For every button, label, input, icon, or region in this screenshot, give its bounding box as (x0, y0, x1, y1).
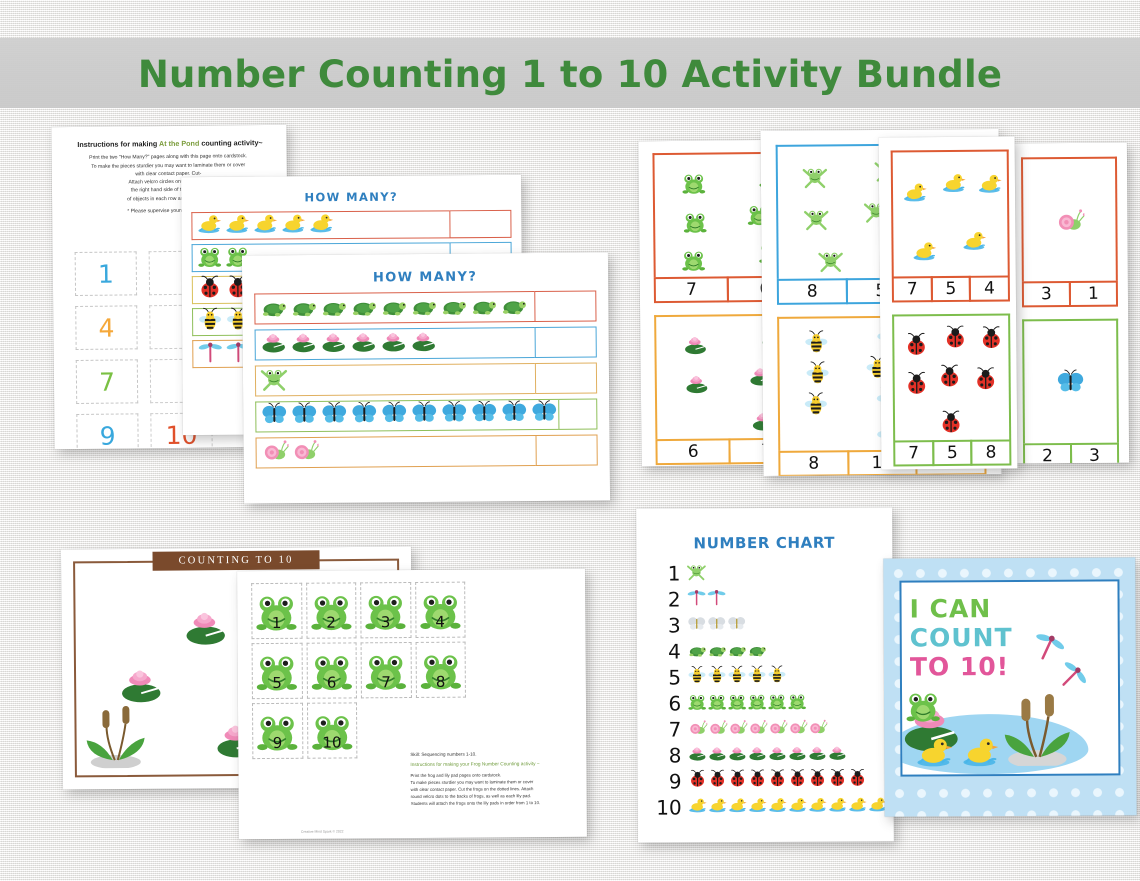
bee-icon (803, 392, 829, 423)
clip-card-options: 754 (892, 275, 1010, 302)
snail-icon (807, 716, 827, 741)
duck-icon (196, 210, 222, 241)
duck-icon (768, 794, 788, 819)
poster-inner: I CANCOUNTTO 10! (899, 579, 1120, 776)
number-chart-row: 4 (651, 637, 893, 664)
lilypad-icon (380, 327, 408, 360)
number-chart-number: 5 (651, 665, 681, 689)
ladybug-icon (787, 768, 807, 793)
number-chart-icons (687, 664, 787, 690)
clip-card[interactable]: 754 (891, 149, 1010, 302)
turtle-icon (439, 291, 467, 324)
copyright-text: Creative Mind Spark © 2022 (301, 829, 344, 833)
how-many-answer-box[interactable] (534, 291, 596, 323)
frog-card-number: 10 (322, 733, 341, 751)
frog-number-card[interactable]: 10 (306, 702, 357, 758)
clip-card[interactable]: 31 (1021, 157, 1118, 308)
number-chart-number: 9 (651, 769, 681, 793)
lilypad-icon (827, 742, 847, 767)
frog-icon (767, 690, 787, 715)
number-chart-number: 10 (652, 795, 682, 819)
how-many-rows (242, 290, 610, 468)
number-chart-number: 1 (650, 561, 680, 585)
frog-number-card[interactable]: 3 (360, 582, 411, 638)
clip-card[interactable]: 23 (1022, 319, 1119, 464)
duck-icon (224, 210, 250, 241)
turtle-icon (687, 639, 707, 664)
duck-icon (960, 732, 1000, 777)
butterfly-icon (440, 399, 468, 432)
bee-icon (767, 664, 787, 689)
bee-icon (727, 665, 747, 690)
number-chart-number: 6 (651, 691, 681, 715)
number-card[interactable]: 4 (75, 305, 137, 350)
lilypad-icon (350, 327, 378, 360)
butterfly-icon (320, 400, 348, 433)
turtle-icon (747, 638, 767, 663)
lilypad-icon (807, 742, 827, 767)
clip-cards-sheet-3[interactable]: 754758 (879, 136, 1018, 469)
bee-icon (803, 329, 829, 360)
bee-icon (747, 664, 767, 689)
how-many-row (256, 435, 598, 469)
dragonfly-icon (687, 587, 707, 612)
clip-card-option[interactable]: 4 (969, 275, 1010, 301)
bee-icon (687, 665, 707, 690)
poster-line-2: COUNT (910, 623, 1013, 653)
how-many-title: HOW MANY? (242, 268, 608, 286)
how-many-answer-box[interactable] (449, 210, 511, 238)
turtle-icon (499, 290, 527, 323)
ladybug-icon (938, 410, 964, 441)
number-chart-icons (688, 794, 888, 820)
number-chart-title: NUMBER CHART (636, 533, 892, 552)
number-chart-number: 2 (651, 587, 681, 611)
frog-card-number: 5 (272, 674, 282, 692)
ladybug-icon (904, 371, 930, 402)
frog-cards-instructions: Print the frog and lily pad pages onto c… (410, 771, 572, 808)
number-chart-row: 9 (651, 767, 893, 794)
clip-card-option[interactable]: 5 (932, 440, 973, 466)
clip-card-option[interactable]: 6 (655, 438, 731, 465)
number-chart-row: 8 (651, 741, 893, 768)
butterfly-icon (500, 398, 528, 431)
number-chart-icons (686, 561, 706, 586)
number-chart-row: 7 (651, 715, 893, 742)
number-chart-row: 3 (651, 611, 893, 638)
clip-card-pictures (891, 149, 1010, 276)
poster-text: I CANCOUNTTO 10! (910, 594, 1013, 682)
lilypad-icon (410, 327, 438, 360)
frog-icon (682, 208, 708, 239)
cattail-icon (84, 702, 147, 774)
clip-card-option[interactable]: 8 (777, 278, 848, 305)
lilypad-icon (683, 332, 709, 363)
how-many-title: HOW MANY? (181, 189, 521, 205)
clip-card-options: 31 (1022, 281, 1118, 308)
clip-card-option[interactable]: 7 (654, 276, 730, 303)
number-chart-icons (687, 638, 767, 663)
frog-card-number: 6 (327, 674, 337, 692)
ladybug-icon (937, 364, 963, 395)
clip-card-pictures (1021, 157, 1118, 282)
turtle-icon (319, 292, 347, 325)
poster-line-3: TO 10! (910, 652, 1013, 682)
butterfly-icon (350, 399, 378, 432)
frog-icon (787, 690, 807, 715)
ladybug-icon (972, 366, 998, 397)
snail-icon (291, 436, 319, 469)
lilypad-icon (747, 742, 767, 767)
duck-icon (788, 794, 808, 819)
how-many-answer-box[interactable] (536, 435, 598, 467)
number-chart-icons (687, 768, 867, 794)
frog-card-number: 4 (435, 613, 445, 631)
how-many-row (255, 363, 597, 397)
frog-jump-icon (803, 205, 829, 236)
frog-icon (680, 247, 706, 278)
turtle-icon (707, 639, 727, 664)
clip-card-option[interactable]: 7 (892, 276, 933, 302)
how-many-answer-box[interactable] (535, 327, 597, 359)
frog-card-number: 9 (273, 734, 283, 752)
bee-icon (707, 665, 727, 690)
number-chart-sheet[interactable]: NUMBER CHART12345678910 (636, 507, 894, 842)
number-chart-row: 5 (651, 663, 893, 690)
snail-icon (261, 436, 289, 469)
how-many-answer-box[interactable] (535, 363, 597, 395)
clip-card-option[interactable]: 8 (971, 439, 1012, 465)
ladybug-icon (197, 274, 223, 305)
frog-cards-skill: Skill: Sequencing numbers 1-10. (410, 751, 572, 757)
frog-number-card[interactable]: 1 (251, 583, 302, 639)
frog-icon (904, 686, 942, 729)
turtle-icon (727, 639, 747, 664)
clip-card-option[interactable]: 3 (1070, 443, 1119, 464)
clip-card-options: 23 (1023, 443, 1119, 464)
number-chart-icons (687, 716, 827, 742)
number-chart-row: 6 (651, 689, 893, 716)
clip-card[interactable]: 758 (892, 313, 1011, 466)
frog-jump-icon (802, 164, 828, 195)
ladybug-icon (942, 325, 968, 356)
frog-card-number: 8 (436, 673, 446, 691)
snail-icon (727, 717, 747, 742)
how-many-row (191, 210, 511, 240)
duck-icon (912, 238, 938, 269)
ladybug-icon (747, 768, 767, 793)
duck-icon (848, 794, 868, 819)
duck-icon (308, 210, 334, 241)
clip-card-pictures (892, 313, 1011, 440)
frog-number-card[interactable]: 9 (252, 703, 303, 759)
how-many-items (255, 363, 535, 396)
instruction-title: Instructions for making At the Pond coun… (63, 139, 276, 150)
clip-card-pictures (1022, 319, 1119, 444)
butterfly-pale-icon (687, 613, 707, 638)
number-chart-icons (687, 613, 747, 638)
count-to-10-poster[interactable]: I CANCOUNTTO 10! (883, 557, 1136, 816)
snail-icon (767, 716, 787, 741)
number-chart-number: 3 (651, 613, 681, 637)
butterfly-pale-icon (707, 613, 727, 638)
snail-icon (707, 717, 727, 742)
duck-icon (941, 170, 967, 201)
dragonfly-icon (707, 587, 727, 612)
turtle-icon (469, 290, 497, 323)
page-title: Number Counting 1 to 10 Activity Bundle (0, 46, 1140, 102)
lilypad-icon (320, 328, 348, 361)
number-chart-icons (687, 742, 847, 768)
how-many-items (254, 291, 534, 324)
duck-icon (728, 795, 748, 820)
number-chart-number: 7 (651, 717, 681, 741)
number-card[interactable]: 7 (76, 359, 138, 404)
clip-card-options: 758 (893, 439, 1011, 466)
lilypad-icon (687, 743, 707, 768)
number-chart-number: 4 (651, 639, 681, 663)
frog-icon (681, 170, 707, 201)
duck-icon (748, 794, 768, 819)
butterfly-pale-icon (727, 613, 747, 638)
butterfly-icon (380, 399, 408, 432)
duck-icon (708, 795, 728, 820)
frog-number-card[interactable]: 5 (252, 643, 303, 699)
clip-card-option[interactable]: 8 (778, 450, 849, 476)
bee-icon (804, 361, 830, 392)
snail-icon (747, 716, 767, 741)
how-many-items (255, 399, 558, 433)
frog-icon (747, 690, 767, 715)
snail-icon (787, 716, 807, 741)
clip-card-option[interactable]: 1 (1069, 281, 1118, 307)
how-many-answer-box[interactable] (558, 399, 597, 430)
frog-icon (197, 242, 223, 273)
duck-icon (252, 210, 278, 241)
clip-cards-sheet-4[interactable]: 3123 (1009, 143, 1129, 464)
frog-card-grid: 12345678910 (251, 582, 466, 759)
number-chart-row: 2 (651, 585, 893, 612)
turtle-icon (259, 292, 287, 325)
butterfly-icon (410, 399, 438, 432)
frog-card-number: 2 (326, 614, 336, 632)
duck-icon (961, 228, 987, 259)
frog-number-cards-sheet[interactable]: 12345678910Skill: Sequencing numbers 1-1… (237, 569, 587, 839)
frog-number-card[interactable]: 6 (306, 642, 357, 698)
snail-icon (687, 717, 707, 742)
ladybug-icon (827, 768, 847, 793)
frog-card-number: 7 (381, 673, 391, 691)
clip-card-option[interactable]: 5 (930, 276, 971, 302)
poster-line-1: I CAN (910, 594, 1013, 624)
bee-icon (197, 306, 223, 337)
lilypad-icon (260, 328, 288, 361)
turtle-icon (409, 291, 437, 324)
how-many-row (255, 327, 597, 361)
butterfly-icon (530, 398, 558, 431)
turtle-icon (349, 291, 377, 324)
number-chart-rows: 12345678910 (650, 559, 893, 820)
butterfly-icon (470, 398, 498, 431)
pond-mat-banner: COUNTING TO 10 (152, 550, 319, 570)
frog-card-number: 1 (272, 614, 282, 632)
number-chart-icons (687, 587, 727, 612)
frog-jump-icon (260, 364, 288, 397)
number-chart-icons (687, 690, 807, 716)
ladybug-icon (847, 768, 867, 793)
duck-icon (828, 794, 848, 819)
lilypad-icon (787, 742, 807, 767)
lilypad-icon (684, 370, 710, 401)
frog-number-card[interactable]: 2 (306, 582, 357, 638)
butterfly-icon (260, 400, 288, 433)
duck-icon (280, 210, 306, 241)
frog-card-number: 3 (381, 613, 391, 631)
lilypad-icon (290, 328, 318, 361)
how-many-sheet-b[interactable]: HOW MANY? (242, 252, 610, 503)
butterfly-icon (290, 400, 318, 433)
how-many-items (256, 435, 536, 468)
frog-cards-info: Skill: Sequencing numbers 1-10.Instructi… (410, 751, 572, 808)
number-chart-number: 8 (651, 743, 681, 767)
frog-jump-icon (686, 561, 706, 586)
turtle-icon (289, 292, 317, 325)
lilypad-icon (767, 742, 787, 767)
turtle-icon (379, 291, 407, 324)
duck-icon (688, 795, 708, 820)
ladybug-icon (807, 768, 827, 793)
ladybug-icon (707, 769, 727, 794)
ladybug-icon (727, 769, 747, 794)
frog-jump-icon (817, 247, 843, 278)
how-many-items (255, 327, 535, 360)
number-card-column-left: 1479 (75, 251, 147, 449)
duck-icon (902, 180, 928, 211)
how-many-items (191, 210, 449, 240)
number-card[interactable]: 1 (75, 251, 137, 296)
clip-card-option[interactable]: 3 (1022, 281, 1071, 307)
cattail-icon (1002, 692, 1072, 771)
how-many-row (254, 291, 596, 325)
duck-icon (808, 794, 828, 819)
frog-icon (687, 691, 707, 716)
dragonfly-icon (197, 338, 223, 369)
frog-icon (727, 691, 747, 716)
clip-card-option[interactable]: 7 (893, 440, 934, 466)
ladybug-icon (687, 769, 707, 794)
frog-cards-instructions-title: Instructions for making your Frog Number… (410, 762, 572, 768)
frog-number-card[interactable]: 4 (415, 582, 466, 638)
frog-icon (707, 691, 727, 716)
lilypad-icon (727, 743, 747, 768)
lilypad-icon (707, 743, 727, 768)
how-many-row (255, 399, 597, 433)
duck-icon (977, 171, 1003, 202)
frog-number-card[interactable]: 7 (361, 642, 412, 698)
ladybug-icon (767, 768, 787, 793)
frog-number-card[interactable]: 8 (415, 642, 466, 698)
ladybug-icon (978, 326, 1004, 357)
clip-card-option[interactable]: 2 (1023, 443, 1072, 463)
number-card[interactable]: 9 (76, 413, 138, 449)
number-chart-row: 10 (652, 793, 894, 820)
duck-icon (914, 732, 954, 776)
ladybug-icon (903, 332, 929, 363)
number-chart-row: 1 (650, 559, 892, 586)
lilypad-icon[interactable] (181, 603, 229, 656)
